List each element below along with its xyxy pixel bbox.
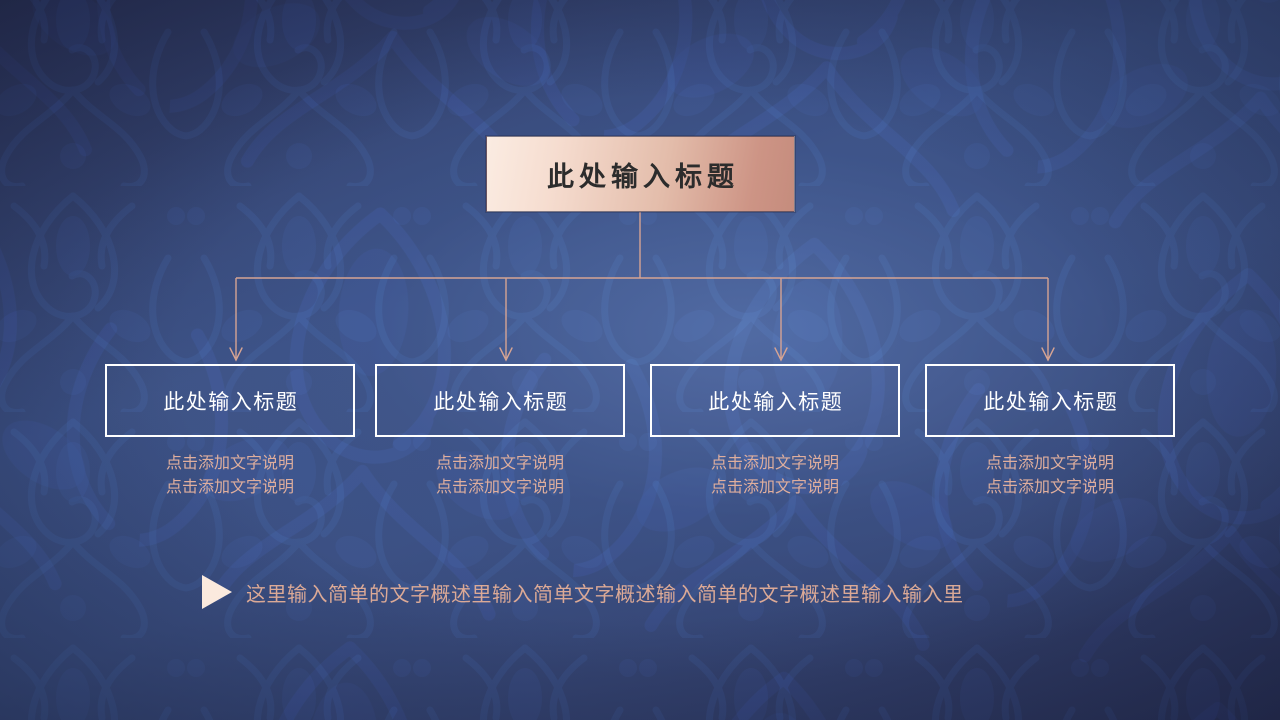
node-label-2: 此处输入标题 xyxy=(432,386,569,416)
node-caption-2: 点击添加文字说明 点击添加文字说明 xyxy=(375,452,625,500)
node-caption-2-line-2: 点击添加文字说明 xyxy=(375,476,625,500)
footnote-row: 这里输入简单的文字概述里输入简单文字概述输入简单的文字概述里输入输入里 xyxy=(202,575,964,609)
node-label-4: 此处输入标题 xyxy=(982,386,1119,416)
slide-canvas: 此处输入标题 此处输入标题 点击添加文字说明 点击添加文字说明 此处输入标题 点… xyxy=(0,0,1280,720)
node-caption-3: 点击添加文字说明 点击添加文字说明 xyxy=(650,452,900,500)
node-caption-3-line-2: 点击添加文字说明 xyxy=(650,476,900,500)
node-caption-1-line-1: 点击添加文字说明 xyxy=(105,452,355,476)
node-box-4[interactable]: 此处输入标题 xyxy=(925,364,1175,437)
node-caption-4-line-1: 点击添加文字说明 xyxy=(925,452,1175,476)
background-vignette xyxy=(0,0,1280,720)
node-caption-3-line-1: 点击添加文字说明 xyxy=(650,452,900,476)
triangle-bullet-icon xyxy=(202,575,232,609)
node-box-1[interactable]: 此处输入标题 xyxy=(105,364,355,437)
node-label-1: 此处输入标题 xyxy=(162,386,299,416)
main-title-box[interactable]: 此处输入标题 xyxy=(486,136,795,212)
footnote-text: 这里输入简单的文字概述里输入简单文字概述输入简单的文字概述里输入输入里 xyxy=(246,578,964,607)
node-caption-2-line-1: 点击添加文字说明 xyxy=(375,452,625,476)
node-caption-4-line-2: 点击添加文字说明 xyxy=(925,476,1175,500)
node-box-3[interactable]: 此处输入标题 xyxy=(650,364,900,437)
node-caption-1: 点击添加文字说明 点击添加文字说明 xyxy=(105,452,355,500)
node-label-3: 此处输入标题 xyxy=(707,386,844,416)
main-title-label: 此处输入标题 xyxy=(542,155,739,194)
node-box-2[interactable]: 此处输入标题 xyxy=(375,364,625,437)
node-caption-4: 点击添加文字说明 点击添加文字说明 xyxy=(925,452,1175,500)
node-caption-1-line-2: 点击添加文字说明 xyxy=(105,476,355,500)
